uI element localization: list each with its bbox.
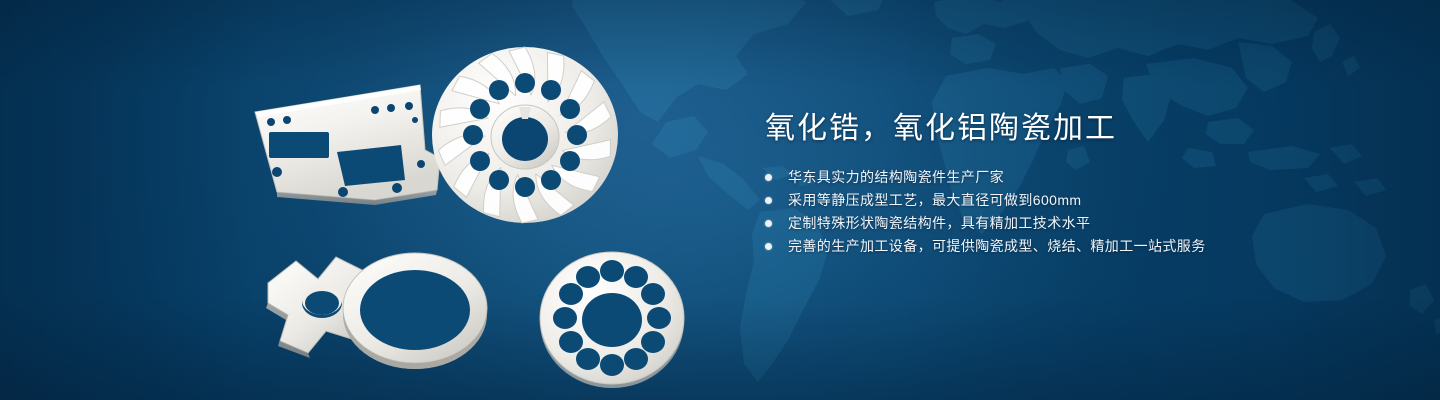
list-item: 采用等静压成型工艺，最大直径可做到600mm [765,189,1325,212]
feature-text: 采用等静压成型工艺，最大直径可做到600mm [788,192,1081,208]
list-item: 华东具实力的结构陶瓷件生产厂家 [765,166,1325,189]
banner-copy: 氧化锆，氧化铝陶瓷加工 华东具实力的结构陶瓷件生产厂家 采用等静压成型工艺，最大… [765,108,1325,258]
feature-text: 定制特殊形状陶瓷结构件，具有精加工技术水平 [788,215,1090,231]
ceramic-perforated-disc-part [540,252,684,388]
bullet-dot-icon [765,197,772,204]
feature-text: 完善的生产加工设备，可提供陶瓷成型、烧结、精加工一站式服务 [788,238,1206,254]
bullet-dot-icon [765,243,772,250]
ceramic-products-image [225,40,725,385]
bullet-dot-icon [765,220,772,227]
banner-headline: 氧化锆，氧化铝陶瓷加工 [765,108,1325,150]
ceramic-ring-part [343,253,487,369]
ceramic-impeller-part [432,47,618,224]
ceramic-plate-part [255,85,440,205]
list-item: 完善的生产加工设备，可提供陶瓷成型、烧结、精加工一站式服务 [765,235,1325,258]
hero-banner: 氧化锆，氧化铝陶瓷加工 华东具实力的结构陶瓷件生产厂家 采用等静压成型工艺，最大… [0,0,1440,400]
feature-text: 华东具实力的结构陶瓷件生产厂家 [788,169,1004,185]
list-item: 定制特殊形状陶瓷结构件，具有精加工技术水平 [765,212,1325,235]
bullet-dot-icon [765,174,772,181]
feature-list: 华东具实力的结构陶瓷件生产厂家 采用等静压成型工艺，最大直径可做到600mm 定… [765,166,1325,258]
